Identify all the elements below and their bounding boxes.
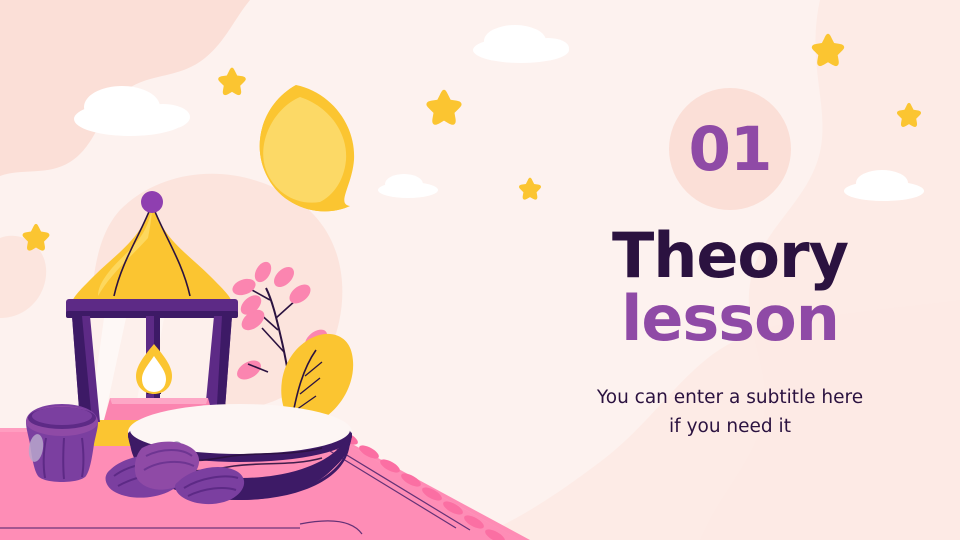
slide-canvas: 01 Theory lesson You can enter a subtitl…	[0, 0, 960, 540]
title-line-secondary: lesson	[612, 287, 848, 350]
section-number-badge: 01	[669, 88, 791, 210]
section-number: 01	[689, 119, 772, 180]
subtitle-line-1: You can enter a subtitle here	[597, 384, 863, 413]
page-title: Theory lesson	[612, 224, 848, 350]
subtitle-line-2: if you need it	[597, 413, 863, 442]
clay-pot	[26, 404, 98, 482]
slide-subtitle: You can enter a subtitle here if you nee…	[597, 384, 863, 441]
title-line-primary: Theory	[612, 224, 848, 287]
slide-text-column: 01 Theory lesson You can enter a subtitl…	[500, 0, 960, 540]
